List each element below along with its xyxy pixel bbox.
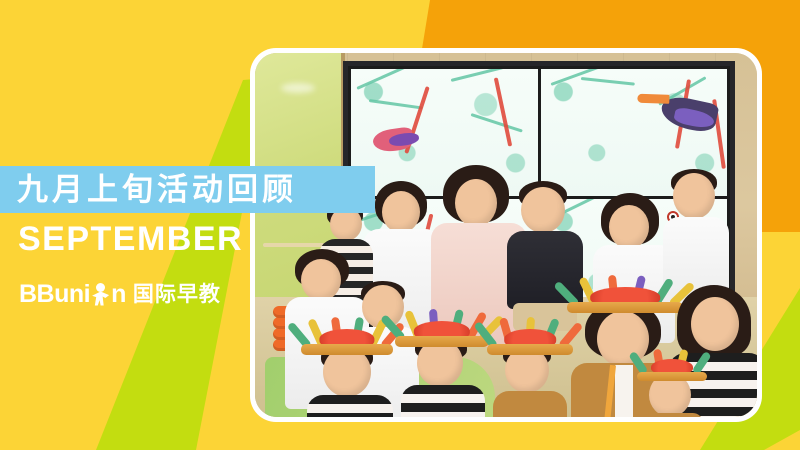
brand-wordmark-part-b: n (111, 282, 126, 307)
door-highlight (281, 83, 315, 93)
brand-wordmark-part-a: BBuni (19, 282, 90, 307)
person-figure-icon (91, 282, 110, 307)
person-child-striped (401, 335, 485, 417)
brand-name-cn: 国际早教 (133, 284, 221, 305)
brand-logo: BBuni n 国际早教 (19, 280, 221, 308)
feather-headdress (567, 271, 683, 313)
event-photo-card (250, 48, 762, 422)
feather-headdress (487, 315, 573, 355)
month-label: SEPTEMBER (18, 222, 243, 256)
feather-headdress (637, 349, 707, 381)
event-photo (255, 53, 757, 417)
page-title: 九月上旬活动回顾 (17, 174, 297, 205)
title-banner: 九月上旬活动回顾 (0, 166, 375, 213)
poster-canvas: 九月上旬活动回顾 SEPTEMBER BBuni n 国际早教 (0, 0, 800, 450)
brand-wordmark: BBuni n (19, 282, 126, 307)
feather-headdress (301, 315, 393, 355)
